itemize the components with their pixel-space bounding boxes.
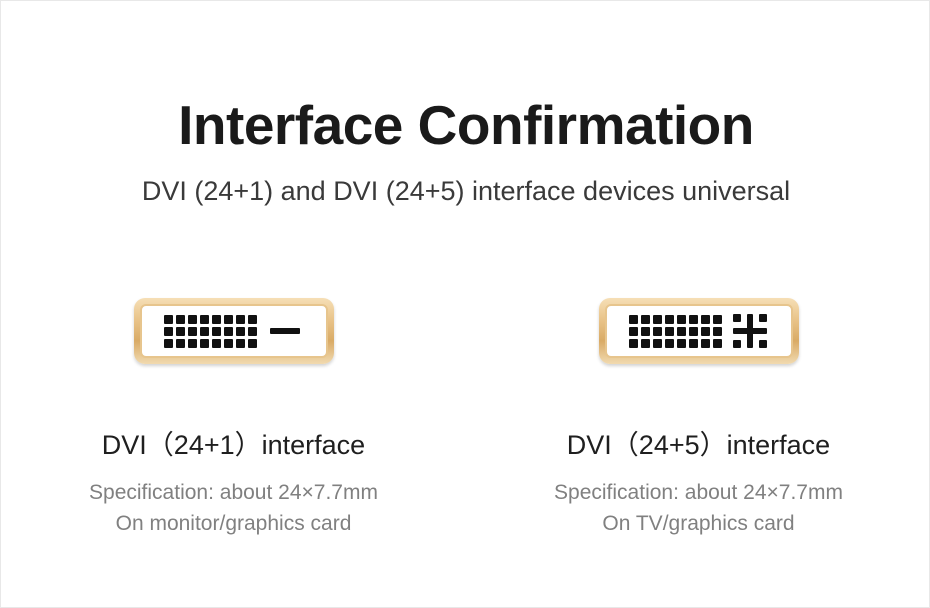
connector-image-wrap-right bbox=[599, 271, 799, 391]
pin bbox=[212, 339, 221, 348]
pin bbox=[236, 315, 245, 324]
pin bbox=[713, 327, 722, 336]
pin bbox=[236, 339, 245, 348]
pin bbox=[689, 315, 698, 324]
pin bbox=[248, 339, 257, 348]
interface-comparison: DVI（24+1）interface Specification: about … bbox=[1, 271, 930, 539]
pin bbox=[701, 339, 710, 348]
spec-line-2-left: On monitor/graphics card bbox=[89, 509, 378, 539]
pin bbox=[653, 339, 662, 348]
pin-grid-right bbox=[629, 315, 722, 348]
connector-inner-left bbox=[140, 304, 328, 358]
pin bbox=[212, 315, 221, 324]
connector-image-wrap-left bbox=[134, 271, 334, 391]
page-subtitle: DVI (24+1) and DVI (24+5) interface devi… bbox=[1, 175, 930, 207]
pin bbox=[665, 327, 674, 336]
pin bbox=[164, 315, 173, 324]
cross-quadrant-pin bbox=[733, 314, 741, 322]
pin bbox=[641, 327, 650, 336]
pin bbox=[248, 315, 257, 324]
flat-blade bbox=[270, 328, 300, 334]
pin bbox=[176, 327, 185, 336]
pin bbox=[164, 339, 173, 348]
pin bbox=[677, 315, 686, 324]
pin bbox=[248, 327, 257, 336]
pin bbox=[188, 327, 197, 336]
pin bbox=[653, 315, 662, 324]
promo-banner: Interface Confirmation DVI (24+1) and DV… bbox=[0, 0, 930, 608]
pin bbox=[713, 339, 722, 348]
page-title: Interface Confirmation bbox=[1, 97, 930, 155]
cross-blade bbox=[733, 314, 767, 348]
cross-blade-contact-icon bbox=[731, 312, 769, 351]
spec-line-1-right: Specification: about 24×7.7mm bbox=[554, 478, 843, 508]
pin bbox=[641, 339, 650, 348]
cross-quadrant-pin bbox=[759, 314, 767, 322]
pin bbox=[677, 327, 686, 336]
pin bbox=[629, 327, 638, 336]
pin bbox=[653, 327, 662, 336]
pin bbox=[200, 339, 209, 348]
connector-inner-right bbox=[605, 304, 793, 358]
pin bbox=[200, 315, 209, 324]
pin bbox=[212, 327, 221, 336]
pin bbox=[236, 327, 245, 336]
cross-quadrant-pin bbox=[759, 340, 767, 348]
pin bbox=[689, 339, 698, 348]
interface-spec-right: Specification: about 24×7.7mm On TV/grap… bbox=[554, 478, 843, 539]
interface-caption-right: DVI（24+5）interface bbox=[567, 429, 830, 461]
pin bbox=[689, 327, 698, 336]
pin bbox=[713, 315, 722, 324]
pin bbox=[629, 315, 638, 324]
pin bbox=[224, 327, 233, 336]
pin bbox=[176, 339, 185, 348]
pin bbox=[176, 315, 185, 324]
dvi-24-5-connector-icon bbox=[599, 298, 799, 364]
pin bbox=[629, 339, 638, 348]
pin-grid-left bbox=[164, 315, 257, 348]
spec-line-1-left: Specification: about 24×7.7mm bbox=[89, 478, 378, 508]
pin bbox=[188, 339, 197, 348]
flat-blade-contact-icon bbox=[266, 312, 304, 351]
pin bbox=[677, 339, 686, 348]
pin bbox=[701, 327, 710, 336]
interface-spec-left: Specification: about 24×7.7mm On monitor… bbox=[89, 478, 378, 539]
pin bbox=[164, 327, 173, 336]
pin bbox=[701, 315, 710, 324]
dvi-24-1-connector-icon bbox=[134, 298, 334, 364]
pin bbox=[665, 339, 674, 348]
pin bbox=[200, 327, 209, 336]
interface-column-dvi-24-1: DVI（24+1）interface Specification: about … bbox=[1, 271, 466, 539]
spec-line-2-right: On TV/graphics card bbox=[554, 509, 843, 539]
pin bbox=[188, 315, 197, 324]
pin bbox=[665, 315, 674, 324]
cross-quadrant-pin bbox=[733, 340, 741, 348]
pin bbox=[224, 315, 233, 324]
pin bbox=[641, 315, 650, 324]
interface-column-dvi-24-5: DVI（24+5）interface Specification: about … bbox=[466, 271, 930, 539]
interface-caption-left: DVI（24+1）interface bbox=[102, 429, 365, 461]
cross-vertical-blade bbox=[747, 314, 753, 348]
pin bbox=[224, 339, 233, 348]
